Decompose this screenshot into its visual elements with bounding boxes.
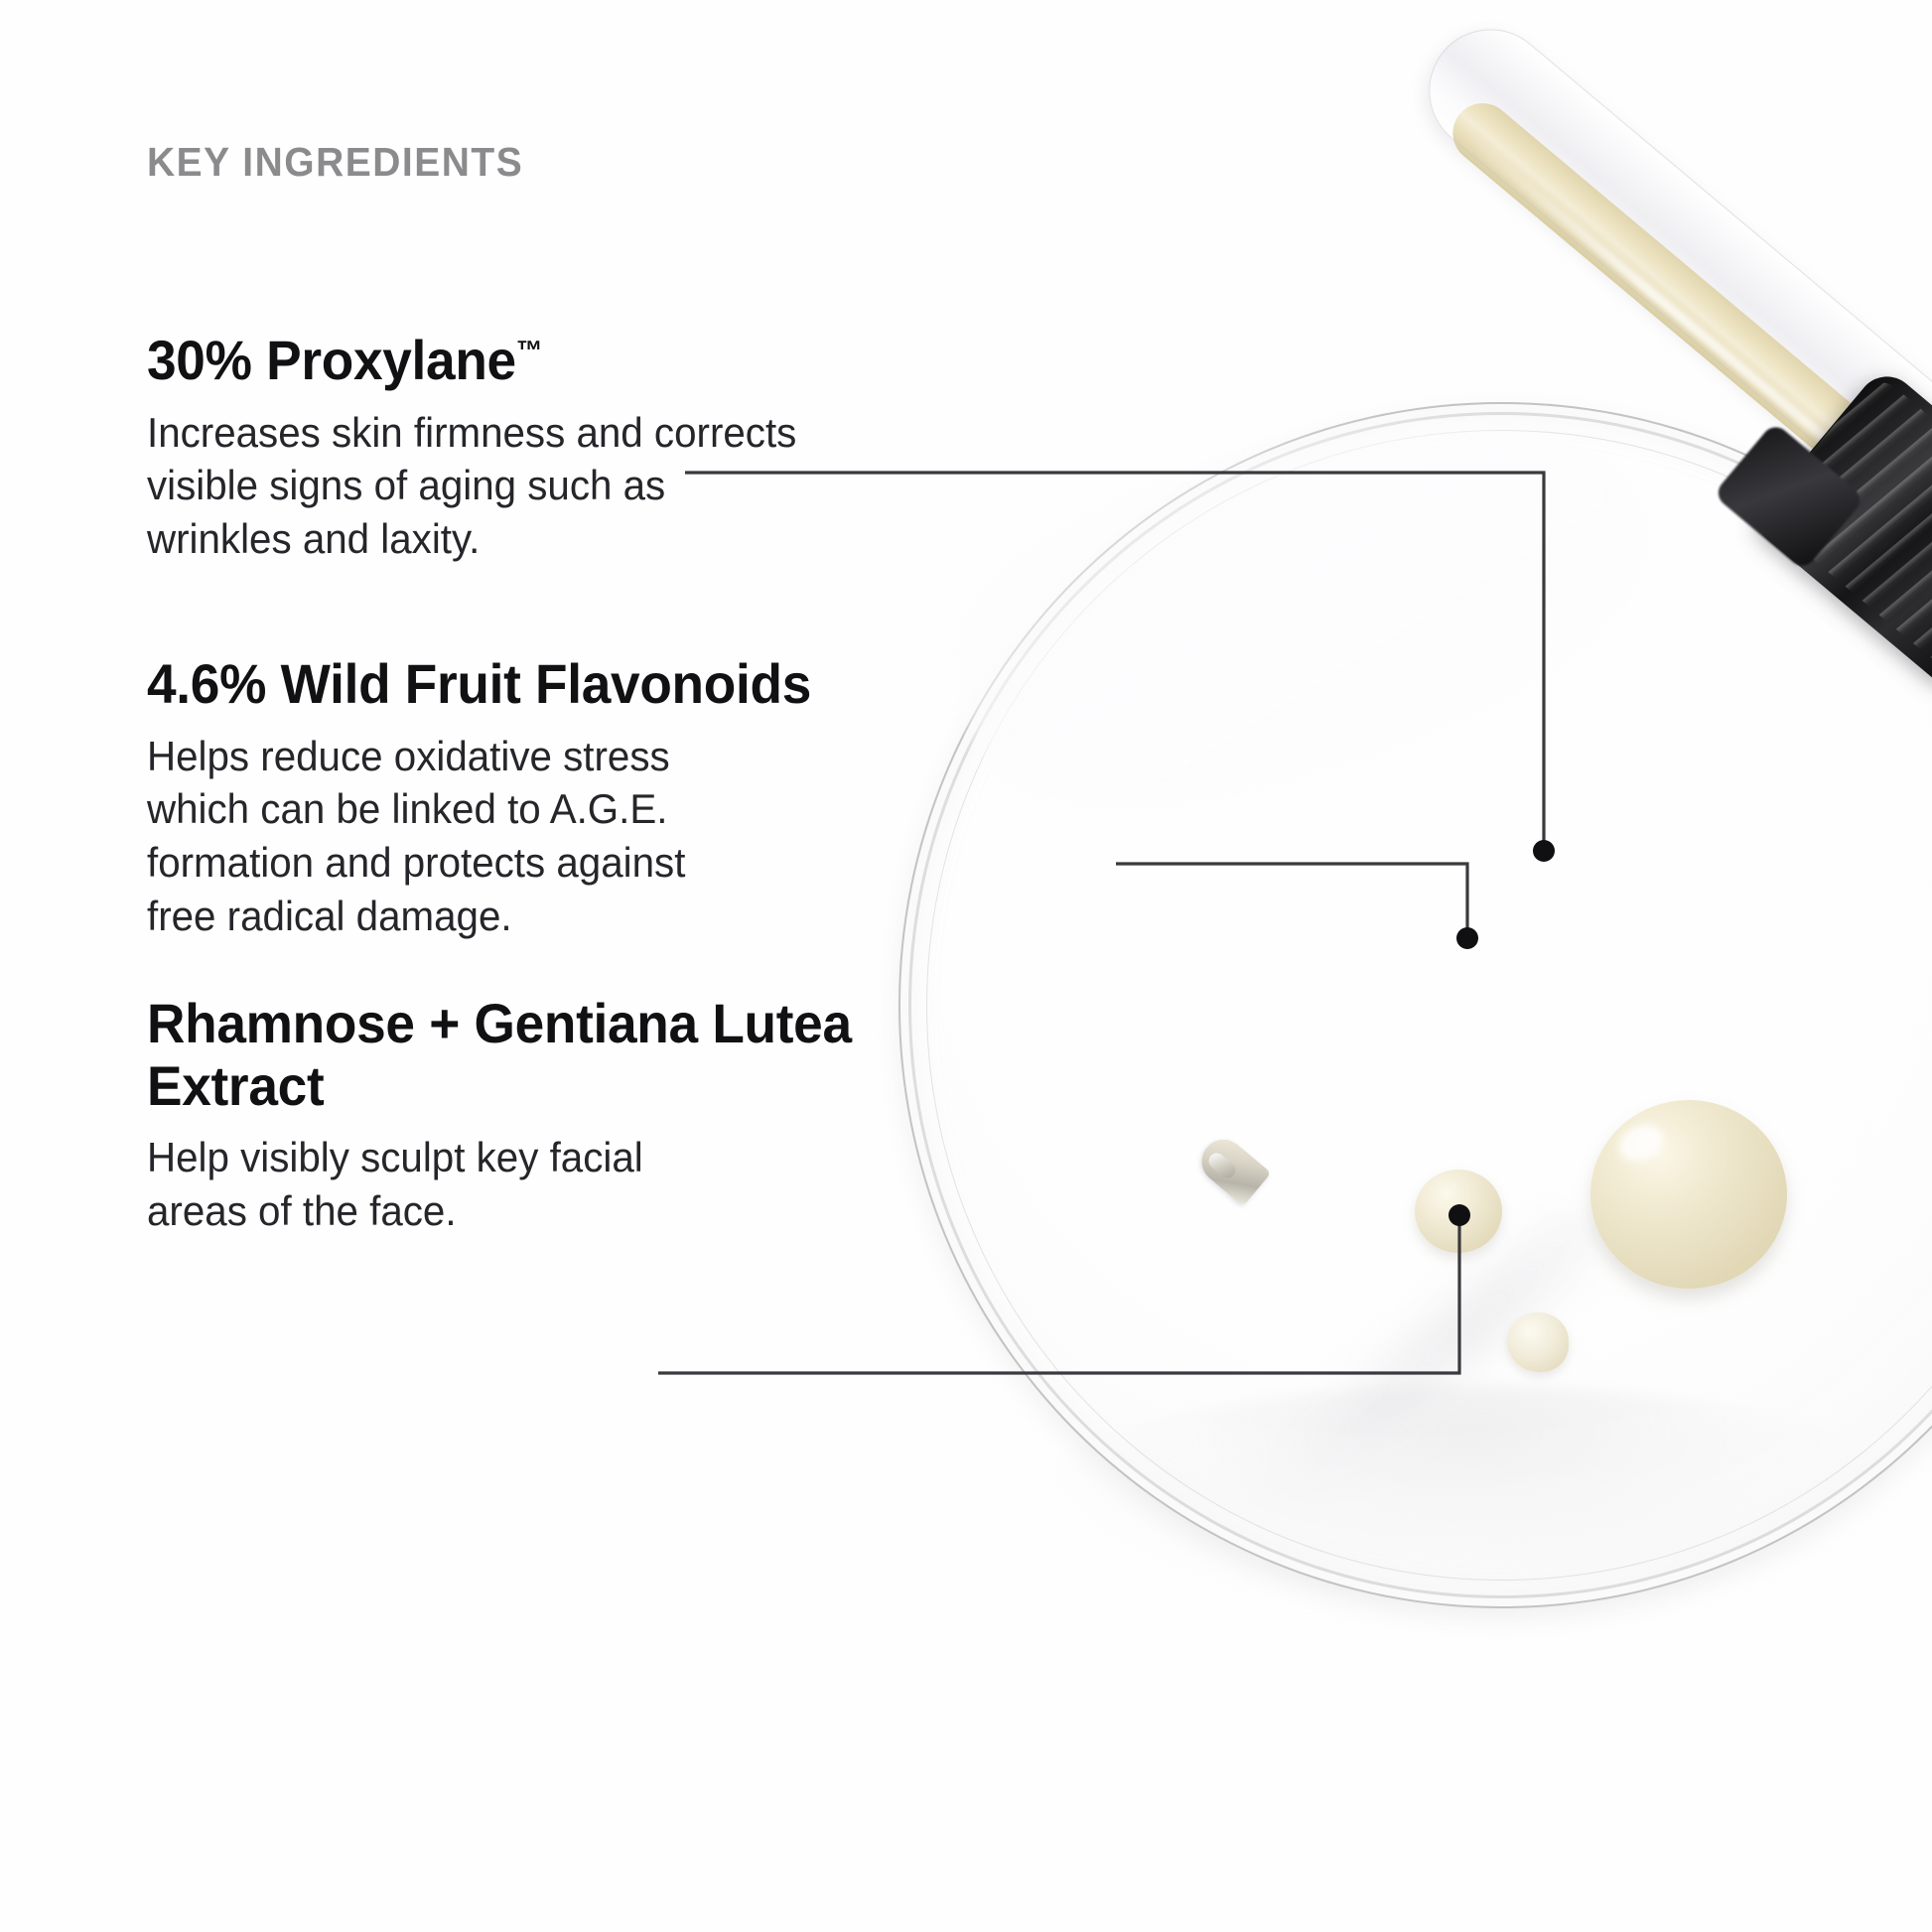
- key-ingredients-panel: KEY INGREDIENTS 30% Proxylane™ Increases…: [0, 0, 1932, 1932]
- ingredient-description-proxylane: Increases skin firmness and corrects vis…: [147, 406, 872, 566]
- ingredient-title-rhamnose: Rhamnose + Gentiana Lutea Extract: [147, 993, 901, 1117]
- ingredient-block-rhamnose: Rhamnose + Gentiana Lutea Extract Help v…: [147, 993, 941, 1238]
- ingredient-description-flavonoids: Helps reduce oxidative stress which can …: [147, 730, 872, 943]
- ingredient-title-proxylane: 30% Proxylane™: [147, 330, 864, 392]
- ingredients-text-column: KEY INGREDIENTS 30% Proxylane™ Increases…: [147, 0, 1080, 1932]
- medium-droplet: [1415, 1170, 1502, 1253]
- ingredient-title-flavonoids: 4.6% Wild Fruit Flavonoids: [147, 653, 864, 716]
- trademark-symbol: ™: [516, 335, 543, 365]
- ingredient-block-flavonoids: 4.6% Wild Fruit Flavonoids Helps reduce …: [147, 653, 901, 943]
- section-eyebrow-title: KEY INGREDIENTS: [147, 139, 523, 186]
- ingredient-description-rhamnose: Help visibly sculpt key facial areas of …: [147, 1131, 872, 1238]
- ingredient-title-text: 30% Proxylane: [147, 329, 516, 391]
- small-droplet: [1507, 1312, 1569, 1372]
- ingredient-block-proxylane: 30% Proxylane™ Increases skin firmness a…: [147, 330, 901, 566]
- large-droplet: [1590, 1100, 1787, 1289]
